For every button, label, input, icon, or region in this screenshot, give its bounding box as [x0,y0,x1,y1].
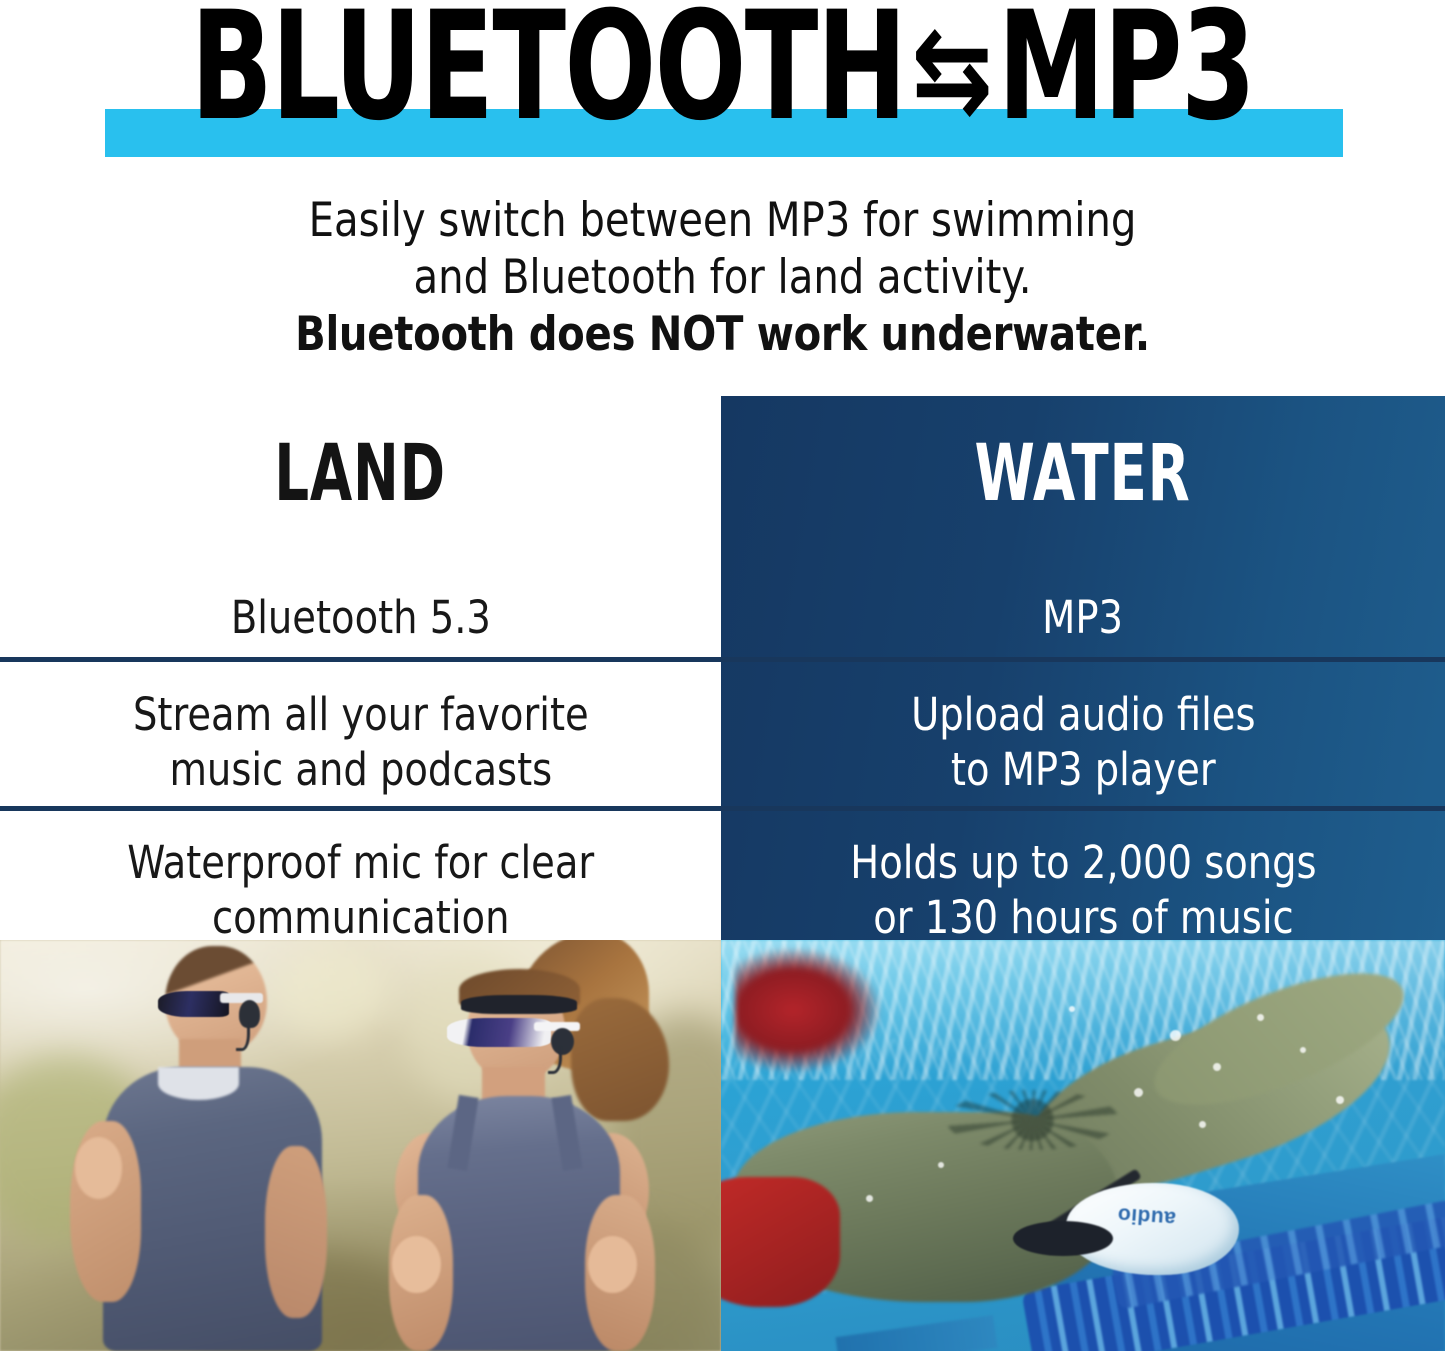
water-column: WATER MP3 Upload audio files to MP3 play… [721,396,1445,940]
left-right-arrow-icon: ⇆ [899,0,1005,144]
subtitle-line-1: Easily switch between MP3 for swimming [36,192,1409,249]
row-divider-1 [0,657,1445,662]
land-row-2-text: Stream all your favorite music and podca… [133,687,589,797]
land-row-2-line-1: Stream all your favorite [133,688,589,741]
land-row-1-text: Bluetooth 5.3 [230,590,490,645]
water-row-3-line-2: or 130 hours of music [873,891,1293,944]
water-row-2: Upload audio files to MP3 player [721,676,1445,808]
underwater-swimmer-photo: audio [721,940,1445,1351]
land-column: LAND Bluetooth 5.3 Stream all your favor… [0,396,721,940]
water-row-1-text: MP3 [1043,590,1124,645]
runners-on-land-photo [0,940,721,1351]
land-row-3-text: Waterproof mic for clear communication [127,835,594,945]
sunglasses-icon [158,991,229,1016]
red-reflection [735,948,880,1071]
product-infographic: BLUETOOTH⇆MP3 Easily switch between MP3 … [0,0,1445,1351]
land-row-3-line-1: Waterproof mic for clear [127,836,594,889]
water-row-3-line-1: Holds up to 2,000 songs [850,836,1316,889]
water-row-3: Holds up to 2,000 songs or 130 hours of … [721,824,1445,956]
title-block: BLUETOOTH⇆MP3 [0,0,1445,172]
water-row-2-line-1: Upload audio files [911,688,1255,741]
photo-strip: audio [0,940,1445,1351]
water-row-3-text: Holds up to 2,000 songs or 130 hours of … [850,835,1316,945]
title-right-word: MP3 [998,0,1255,154]
land-row-2-line-2: music and podcasts [169,743,552,796]
water-row-2-line-2: to MP3 player [951,743,1216,796]
land-row-1: Bluetooth 5.3 [0,574,721,660]
red-swim-trunks [721,1177,840,1307]
land-header-label: LAND [275,435,447,513]
land-row-3-line-2: communication [212,891,509,944]
subtitle-block: Easily switch between MP3 for swimming a… [0,192,1445,363]
row-divider-2 [0,806,1445,811]
subtitle-line-2: and Bluetooth for land activity. [36,249,1409,306]
page-title: BLUETOOTH⇆MP3 [145,0,1301,144]
swimmer-figure: audio [721,1063,1373,1334]
subtitle-line-3-bold: Bluetooth does NOT work underwater. [36,306,1409,363]
title-left-word: BLUETOOTH [191,0,906,154]
headband [461,995,576,1013]
land-column-header: LAND [0,414,721,534]
water-column-header: WATER [721,414,1445,534]
land-row-3: Waterproof mic for clear communication [0,824,721,956]
water-row-1: MP3 [721,574,1445,660]
female-runner [389,940,677,1351]
male-runner [94,940,332,1351]
swim-goggles [1013,1221,1113,1256]
water-row-2-text: Upload audio files to MP3 player [911,687,1255,797]
land-row-2: Stream all your favorite music and podca… [0,676,721,808]
comparison-table: LAND Bluetooth 5.3 Stream all your favor… [0,396,1445,940]
arm-tattoo [946,1090,1119,1150]
water-header-label: WATER [975,435,1191,513]
